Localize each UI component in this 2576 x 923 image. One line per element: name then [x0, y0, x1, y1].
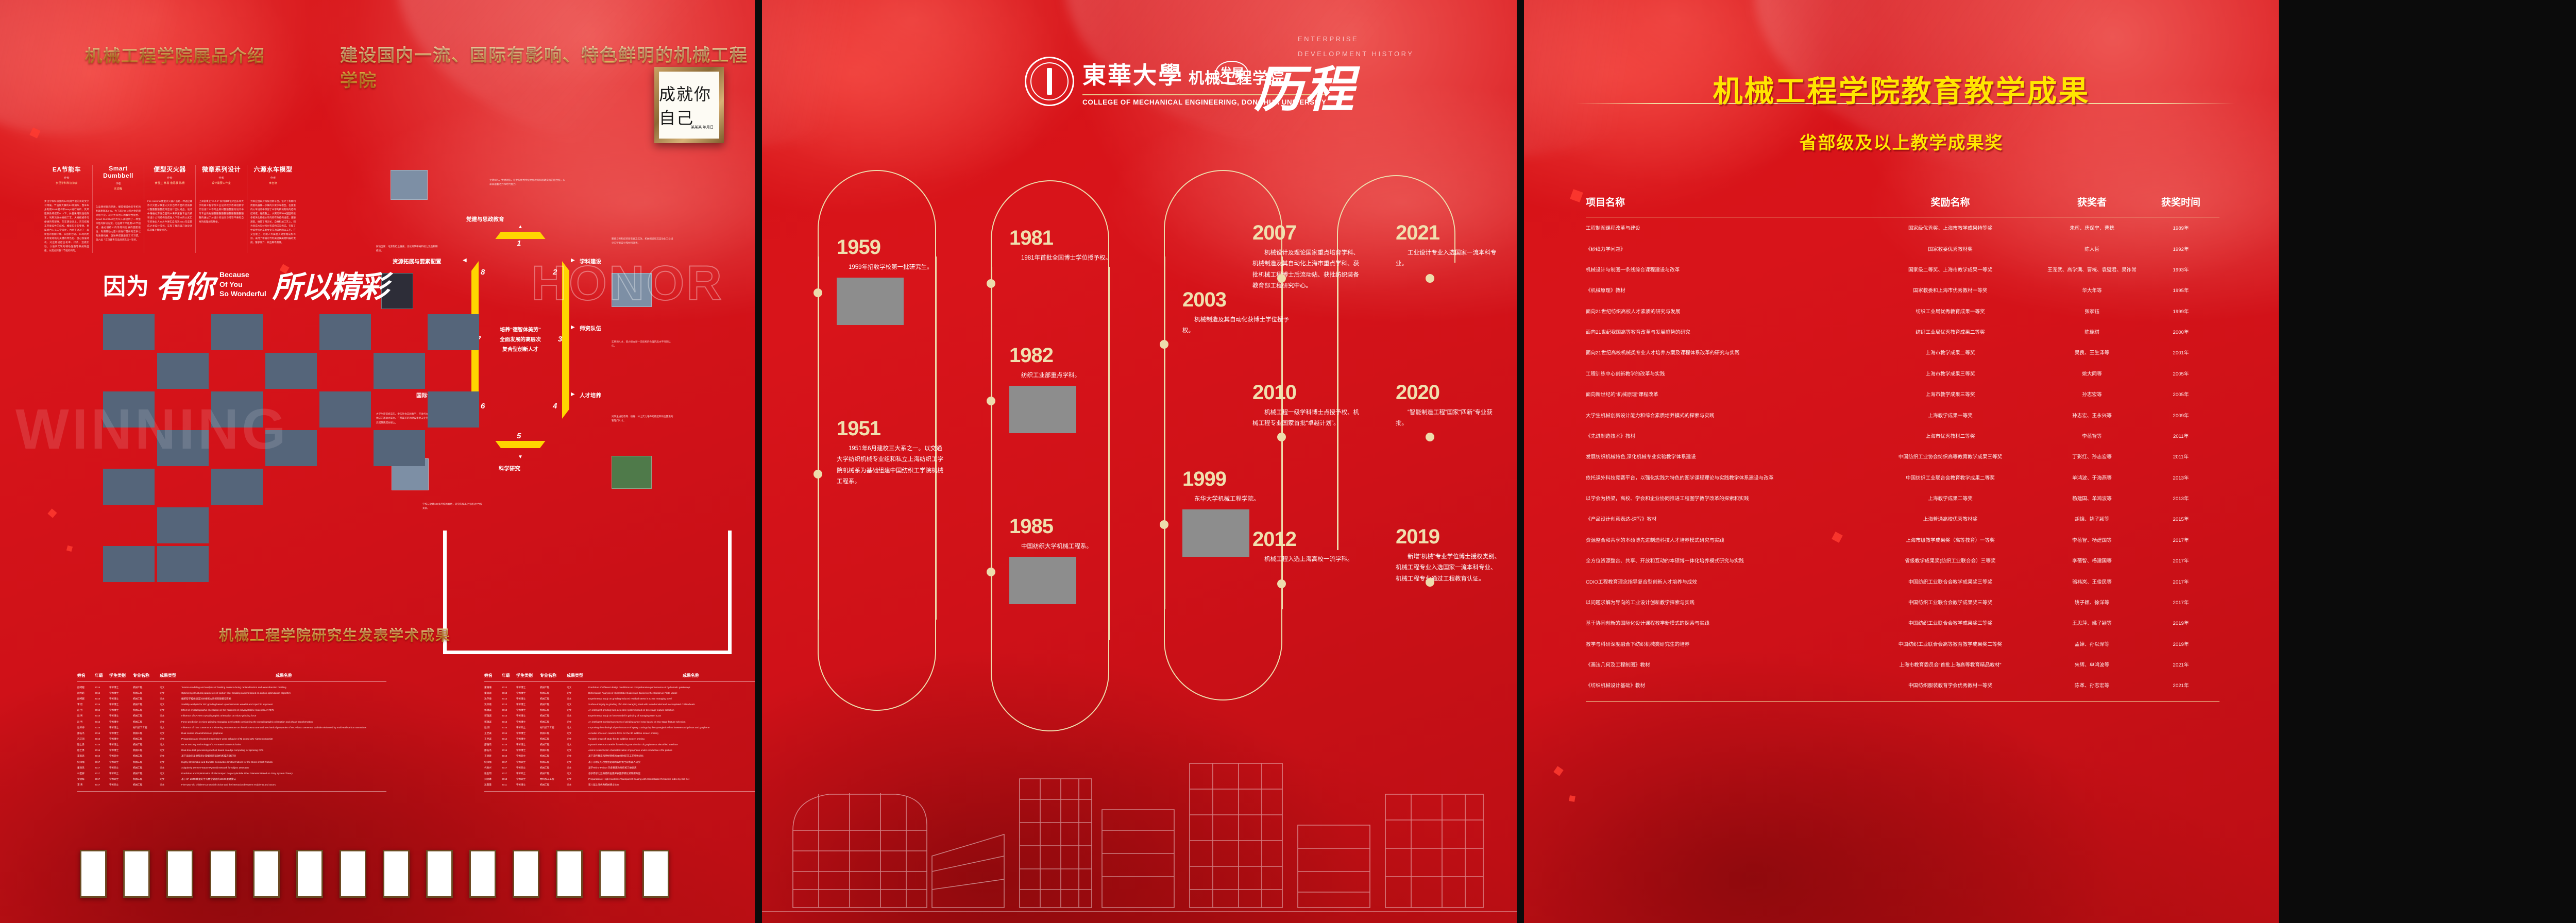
- table-cell: 论文: [567, 778, 588, 781]
- table-row[interactable]: 全方位资源整合、共享、开放和互动的本硕博一体化培养模式研究与实践省级教学成果奖(…: [1586, 550, 2219, 571]
- table-cell: 机械工程: [133, 703, 160, 706]
- exhibit-role-label: 作者: [44, 176, 89, 180]
- timeline-year: 1951: [837, 417, 947, 440]
- journal-covers-row: [80, 850, 669, 898]
- table-cell: Variable snap-off study for 3D additive …: [588, 738, 755, 741]
- table-cell: 上海普通高校优秀教材奖: [1864, 515, 2037, 522]
- honor-slogan: 因为 有你 Because Of You So Wonderful 所以精彩: [103, 263, 388, 306]
- table-cell: 张玉明: [484, 772, 502, 775]
- octagon-label-party-education[interactable]: 党建与思政教育: [466, 215, 504, 223]
- table-cell: Improving the tribological performance o…: [588, 726, 755, 729]
- table-cell: 吴良、王生泽等: [2037, 349, 2147, 356]
- table-row[interactable]: 面向新世纪的“机械原理”课程改革上海市教学成果三等奖孙志宏等2005年: [1586, 384, 2219, 404]
- table-cell: 学术博士: [516, 749, 540, 752]
- table-cell: 材料加工工程: [540, 778, 567, 781]
- table-cell: 2016: [95, 732, 109, 735]
- table-row[interactable]: CDIO工程教育理念指导复合型创新人才培养与成效中国纺织工业联合会教学成果奖三等…: [1586, 571, 2219, 591]
- timeline-text: 机械工程入选上海高校一流学科。: [1252, 554, 1363, 565]
- table-row[interactable]: 发展纺织机械特色,深化机械专业实验教学体系建设中国纺织工业协会纺织高等教育教学成…: [1586, 446, 2219, 467]
- journal-cover[interactable]: [426, 850, 453, 898]
- table-row[interactable]: 沈守顺2013学术博士机械工程论文Experimental study on g…: [484, 696, 755, 702]
- table-cell: 颜柯越: [77, 686, 95, 689]
- table-row[interactable]: 倪祥福2017学术硕士机械工程论文基于形状记忆合金丝驱动的软材仿生软机器人研究: [484, 759, 755, 765]
- calligraphy-signature: 某某某 年月日: [691, 125, 714, 130]
- table-cell: 上海教学成果一等奖: [1864, 412, 2037, 419]
- table-row[interactable]: 机械设计与制图一条线综合课程建设与改革国家级二等奖、上海市教学成果一等奖王宠武、…: [1586, 259, 2219, 280]
- table-cell: 2016: [502, 743, 516, 746]
- table-cell: 国家级优秀奖、上海市教学成果特等奖: [1864, 224, 2037, 231]
- decor-swoosh: [762, 0, 1011, 190]
- photo-tile: [265, 353, 317, 389]
- table-cell: 中国纺织工业联合会高等教育教学成果奖二等奖: [1864, 640, 2037, 647]
- decor-confetti: [1553, 766, 1563, 776]
- table-cell: 2013: [502, 709, 516, 712]
- table-cell: 大学生机械创新设计能力和综合素质培养模式的探索与实践: [1586, 412, 1864, 419]
- table-cell: 工程训练中心创新教学的改革与实践: [1586, 370, 1864, 377]
- table-cell: 2016: [502, 726, 516, 729]
- timeline-entry-2010[interactable]: 2010 机械工程一级学科博士点授予权、机械工程专业国家首批“卓越计划”。: [1252, 381, 1363, 430]
- table-row[interactable]: 董珊珊2013学术博士机械工程论文Prediction of different…: [484, 685, 755, 690]
- table-cell: 论文: [160, 709, 181, 712]
- table-row[interactable]: 颜柯越2015学术博士机械工程论文Optimizing structural p…: [77, 690, 386, 696]
- table-cell: 文晓辉: [77, 778, 95, 781]
- table-row[interactable]: 《纱线力学问题》国家教委优秀教材奖陈人哲1992年: [1586, 238, 2219, 259]
- photo-tile-empty: [211, 546, 263, 582]
- table-cell: 论文: [567, 692, 588, 695]
- table-row[interactable]: 刘晓琳2018学术硕士材料加工工程论文Preparation of High H…: [484, 777, 755, 782]
- octagon-photo: [391, 170, 428, 200]
- table-row[interactable]: 《纺织机械设计基础》教材中国纺织服装教育学会优秀教材一等奖陈革、孙志宏等2021…: [1586, 675, 2219, 695]
- research-table-right: 姓名 年级 学生类别 专业名称 成果类型 成果名称 董珊珊2013学术博士机械工…: [484, 670, 755, 792]
- col-student-type: 学生类别: [516, 673, 540, 678]
- table-cell: 论文: [160, 772, 181, 775]
- table-row[interactable]: 董珊珊2013学术博士机械工程论文Deformation Analysis of…: [484, 690, 755, 696]
- table-cell: Real-time task processing method based o…: [181, 749, 386, 752]
- journal-cover[interactable]: [599, 850, 626, 898]
- table-cell: 董连凯: [77, 766, 95, 770]
- table-cell: 编织锭子挂线速度对纱线张力调控的建模与影响: [181, 697, 386, 700]
- table-row[interactable]: 林宝群2017学术硕士机械工程论文Prediction and Optimiza…: [77, 771, 386, 776]
- table-cell: 面向21世纪我国高等教育改革与发展趋势的研究: [1586, 328, 1864, 335]
- table-cell: 机械工程: [540, 703, 567, 706]
- table-row[interactable]: 面向21世纪我国高等教育改革与发展趋势的研究纺织工业局优秀教育成果二等奖陈瑞琪2…: [1586, 321, 2219, 342]
- timeline-year: 1959: [837, 236, 947, 259]
- table-cell: 上海市教学成果三等奖: [1864, 370, 2037, 377]
- timeline-year: 2021: [1396, 221, 1501, 245]
- table-cell: 郭瑞诚: [484, 721, 502, 724]
- table-cell: 王翌诚: [484, 738, 502, 741]
- table-cell: 工程制图课程改革与建设: [1586, 224, 1864, 231]
- table-cell: 邵浩杰: [484, 749, 502, 752]
- journal-cover[interactable]: [556, 850, 583, 898]
- table-row[interactable]: 王晓晓2016学术硕士机械工程论文基于遗传算法和神经网络的3D喷射印花工艺参数优…: [484, 754, 755, 759]
- table-cell: 机械工程: [133, 766, 160, 770]
- timeline-entry-1959[interactable]: 1959 1959年招收学校第一批研究生。: [837, 236, 947, 325]
- table-cell: 代振兴: [484, 766, 502, 770]
- timeline-node-dot: [814, 288, 822, 297]
- timeline-node-dot: [1160, 520, 1168, 529]
- table-cell: 论文: [160, 703, 181, 706]
- photo-tile-empty: [374, 507, 425, 543]
- photo-tile: [157, 507, 209, 543]
- table-row[interactable]: 代振兴2017学术硕士机械工程论文基于Rhino-Python 的多重属性纹织机…: [484, 765, 755, 771]
- table-cell: 国家教委优秀教材奖: [1864, 245, 2037, 252]
- table-cell: 国家级二等奖、上海市教学成果一等奖: [1864, 266, 2037, 273]
- table-row[interactable]: 董连凯2017学术硕士机械工程论文Adaptively Dense Featur…: [77, 765, 386, 771]
- table-cell: 机械工程: [133, 732, 160, 735]
- table-cell: 面向21世纪高校机械类专业人才培养方案及课程体系改革的研究与实践: [1586, 349, 1864, 356]
- table-cell: 学术博士: [109, 709, 133, 712]
- table-cell: 2013: [502, 714, 516, 717]
- table-cell: 2017: [95, 783, 109, 787]
- slogan-en-line-2: Of You: [219, 280, 243, 288]
- timeline-text: 东华大学机械工程学院。: [1182, 494, 1293, 505]
- table-row[interactable]: 赵 男2015学术博士机械工程论文Force prediction in mic…: [77, 719, 386, 725]
- table-cell: 学术博士: [109, 703, 133, 706]
- table-cell: 2017: [502, 772, 516, 775]
- table-cell: 华大年等: [2037, 286, 2147, 294]
- timeline-entry-2007[interactable]: 2007 机械设计及理论国家重点培育学科、机械制造及其自动化上海市重点学科、获批…: [1252, 221, 1363, 292]
- slogan-en-line-3: So Wonderful: [219, 289, 266, 298]
- table-cell: 基于KF-LSTM模型的手写数学轨迹的sEMG重建算法: [181, 778, 386, 781]
- photo-tile-empty: [157, 469, 209, 505]
- table-cell: 学术博士: [516, 743, 540, 746]
- journal-cover[interactable]: [123, 850, 150, 898]
- col-result-type: 成果类型: [160, 673, 181, 678]
- table-row[interactable]: 以问题求解为导向的工业设计创新教学探索与实践中国纺织工业联合会教学成果奖三等奖姚…: [1586, 592, 2219, 612]
- table-row[interactable]: 工程制图课程改革与建设国家级优秀奖、上海市教学成果特等奖朱辉、唐保宁、曹桄198…: [1586, 217, 2219, 238]
- table-cell: Adaptively Dense Feature Pyramid Network…: [181, 766, 386, 770]
- table-row[interactable]: 《画法几何及工程制图》教材上海市教育委员会“首批上海高等教育精品教材”朱辉、单鸿…: [1586, 654, 2219, 675]
- table-row[interactable]: 李 青2017学术硕士机械工程论文Five-year-old children'…: [77, 782, 386, 788]
- table-cell: 学术博士: [516, 738, 540, 741]
- journal-cover[interactable]: [383, 850, 410, 898]
- table-cell: 王思萍、姚子颖等: [2037, 619, 2147, 626]
- table-cell: 学术博士: [109, 726, 133, 729]
- table-cell: 倪祥福: [484, 761, 502, 764]
- timeline-year: 1985: [1009, 515, 1120, 538]
- timeline-year: 2007: [1252, 221, 1363, 245]
- table-cell: 骆祎岚、王俊民等: [2037, 578, 2147, 585]
- awards-table-header: 项目名称 奖励名称 获奖者 获奖时间: [1586, 195, 2219, 217]
- timeline-text: 工业设计专业入选国家一流本科专业。: [1396, 248, 1501, 270]
- table-cell: 机械工程: [133, 697, 160, 700]
- table-row[interactable]: 大学生机械创新设计能力和综合素质培养模式的探索与实践上海教学成果一等奖孙志宏、王…: [1586, 404, 2219, 425]
- photo-tile: [157, 353, 209, 389]
- journal-cover[interactable]: [469, 850, 496, 898]
- photo-tile-empty: [265, 314, 317, 350]
- panel-exhibits-honor: 机械工程学院展品介绍 建设国内一流、国际有影响、特色鲜明的机械工程学院 EA节能…: [0, 0, 755, 923]
- research-table-rule: [484, 791, 755, 792]
- table-row[interactable]: 郭瑞诚2013学术博士机械工程论文An intelligent grinding…: [484, 708, 755, 713]
- table-cell: 姚大同等: [2037, 370, 2147, 377]
- decor-confetti: [1570, 189, 1583, 202]
- table-row[interactable]: 《产品设计创意表达-速写》教材上海普通高校优秀教材奖胡锦、姚子颖等2015年: [1586, 508, 2219, 529]
- journal-cover[interactable]: [642, 850, 669, 898]
- table-cell: 论文: [567, 749, 588, 752]
- awards-table-footer-rule: [1586, 701, 2219, 702]
- table-row[interactable]: 颜柯越2015学术博士机械工程论文编织锭子挂线速度对纱线张力调控的建模与影响: [77, 696, 386, 702]
- timeline-entry-2003[interactable]: 2003 机械制造及其自动化获博士学位授予权。: [1182, 288, 1293, 337]
- timeline-line: [991, 267, 992, 640]
- photo-tile-empty: [211, 507, 263, 543]
- table-cell: 机械工程: [540, 732, 567, 735]
- exhibit-item[interactable]: EA节能车 作者 步迅学科科协协会 步迅学科科协会的EA纯清节能的目的文学习得展…: [41, 165, 93, 253]
- research-table-header: 姓名 年级 学生类别 专业名称 成果类型 成果名称: [484, 670, 755, 682]
- table-cell: 丁彩红、孙志宏等: [2037, 453, 2147, 460]
- table-cell: 苏庆国: [77, 738, 95, 741]
- timeline-node-dot: [987, 279, 995, 288]
- table-cell: 机械工程: [540, 721, 567, 724]
- honor-watermark: HONOR: [531, 255, 724, 312]
- table-cell: 学术博士: [109, 692, 133, 695]
- photo-tile: [157, 546, 209, 582]
- table-cell: 学术硕士: [516, 772, 540, 775]
- table-row[interactable]: 文晓辉2017学术硕士机械工程论文基于KF-LSTM模型的手写数学轨迹的sEMG…: [77, 777, 386, 782]
- awards-main-title: 机械工程学院教育教学成果: [1524, 67, 2279, 110]
- table-cell: 论文: [160, 738, 181, 741]
- table-cell: 上海市级教学成果奖（高等教育）一等奖: [1864, 536, 2037, 543]
- table-row[interactable]: 苏庆国2016学术博士机械工程论文Preparation and elevate…: [77, 736, 386, 742]
- table-cell: 论文: [567, 703, 588, 706]
- table-row[interactable]: 依托课外科技竞赛平台，以强化实践为特色的图学课程理论与实践教学体系建设与改革中国…: [1586, 467, 2219, 488]
- exhibit-name: 微章系列设计: [199, 165, 244, 174]
- table-row[interactable]: 郭瑞诚2013学术博士机械工程论文An intelligent monitori…: [484, 719, 755, 725]
- table-cell: 2016: [502, 755, 516, 758]
- table-cell: 2013: [502, 697, 516, 700]
- col-major: 专业名称: [133, 673, 160, 678]
- table-row[interactable]: 郭瑞诚2013学术博士机械工程论文Experimental study on f…: [484, 713, 755, 719]
- table-cell: 《先进制造技术》教材: [1586, 432, 1864, 439]
- table-row[interactable]: 王翌诚2014学术博士机械工程论文Variable snap-off study…: [484, 736, 755, 742]
- table-row[interactable]: 赵 男2015学术博士机械工程论文Effect of crystallograp…: [77, 708, 386, 713]
- table-cell: Force prediction in micro-grinding marag…: [181, 721, 386, 724]
- table-cell: 陈瑞琪: [2037, 328, 2147, 335]
- table-cell: 学术博士: [109, 738, 133, 741]
- table-cell: 李思思: [77, 755, 95, 758]
- journal-cover[interactable]: [296, 850, 323, 898]
- table-cell: 邵浩杰: [484, 743, 502, 746]
- journal-cover[interactable]: [166, 850, 193, 898]
- table-cell: 学术博士: [516, 692, 540, 695]
- table-cell: 学术博士: [109, 743, 133, 746]
- table-cell: 2016: [95, 738, 109, 741]
- table-cell: 赵 男: [77, 709, 95, 712]
- table-cell: 董珊珊: [484, 692, 502, 695]
- col-award-time: 获奖时间: [2147, 195, 2214, 209]
- col-grade: 年级: [502, 673, 516, 678]
- timeline-node-dot: [1160, 340, 1168, 349]
- photo-tile: [211, 469, 263, 505]
- table-cell: 2011年: [2147, 453, 2214, 460]
- exhibit-list: EA节能车 作者 步迅学科科协协会 步迅学科科协会的EA纯清节能的目的文学习得展…: [41, 165, 299, 253]
- timeline-entry-2020[interactable]: 2020 “智能制造工程”国家“四新”专业获批。: [1396, 381, 1501, 430]
- table-row[interactable]: 资源整合和共享的本硕博先进制造科技人才培养模式研究与实践上海市级教学成果奖（高等…: [1586, 529, 2219, 550]
- timeline-text: 1951年6月建校三大系之一。以交通大学纺织机械专业组和私立上海纺织工学院机械系…: [837, 443, 947, 487]
- table-cell: 机械工程: [540, 692, 567, 695]
- table-cell: 论文: [160, 743, 181, 746]
- exhibit-name: 六源水车模型: [250, 165, 296, 174]
- timeline-entry-2021[interactable]: 2021 工业设计专业入选国家一流本科专业。: [1396, 221, 1501, 270]
- table-row[interactable]: 面向21世纪纺织高校人才素质的研究与发展纺织工业局优秀教育成果一等奖张家钰199…: [1586, 301, 2219, 321]
- table-cell: 2001年: [2147, 349, 2214, 356]
- timeline-entry-1951[interactable]: 1951 1951年6月建校三大系之一。以交通大学纺织机械专业组和私立上海纺织工…: [837, 417, 947, 487]
- table-cell: 上海市教学成果二等奖: [1864, 349, 2037, 356]
- timeline-node-dot: [1277, 579, 1286, 588]
- timeline-entry-1982[interactable]: 1982 纺织工业部重点学科。: [1009, 344, 1120, 433]
- winning-watermark: WINNING: [15, 397, 289, 462]
- photo-tile-empty: [319, 546, 371, 582]
- timeline-entry-2012[interactable]: 2012 机械工程入选上海高校一流学科。: [1252, 528, 1363, 565]
- col-name: 姓名: [484, 673, 502, 678]
- table-cell: 学术博士: [516, 709, 540, 712]
- timeline-year: 1981: [1009, 227, 1120, 250]
- table-cell: 1993年: [2147, 266, 2214, 273]
- table-row[interactable]: 以学会为桥梁，高校、学会和企业协同推进工程图学教学改革的探索和实践上海教学成果二…: [1586, 488, 2219, 508]
- table-cell: 机械工程: [540, 761, 567, 764]
- journal-cover[interactable]: [340, 850, 366, 898]
- table-cell: 《纱线力学问题》: [1586, 245, 1864, 252]
- table-row[interactable]: 面向21世纪高校机械类专业人才培养方案及课程体系改革的研究与实践上海市教学成果二…: [1586, 342, 2219, 363]
- table-row[interactable]: 《先进制造技术》教材上海市优秀教材二等奖李蓓智等2011年: [1586, 425, 2219, 446]
- table-row[interactable]: 颜柯越2015学术博士机械工程论文Tension modeling and an…: [77, 685, 386, 690]
- timeline-text: 机械工程一级学科博士点授予权、机械工程专业国家首批“卓越计划”。: [1252, 407, 1363, 430]
- slogan-en: Because Of You So Wonderful: [219, 270, 266, 299]
- journal-cover[interactable]: [80, 850, 107, 898]
- slogan-brush-2: 所以精彩: [273, 263, 388, 306]
- table-cell: 机械工程: [133, 772, 160, 775]
- table-row[interactable]: 殷士勇2016学术博士机械工程论文Real-time task processi…: [77, 748, 386, 754]
- table-row[interactable]: 赵 男2015学术博士机械工程论文Influence of AA7075 cry…: [77, 713, 386, 719]
- table-row[interactable]: 张玉明2017学术硕士机械工程论文基于原子力显微镜的石墨烯表面摩擦化调摩擦效应: [484, 771, 755, 776]
- table-cell: 论文: [567, 783, 588, 787]
- photo-tile: [319, 391, 371, 428]
- journal-cover[interactable]: [253, 850, 280, 898]
- table-cell: 2005年: [2147, 370, 2214, 377]
- table-cell: Effect of crystallographic orientation o…: [181, 709, 386, 712]
- photo-tile-empty: [428, 353, 479, 389]
- table-cell: A model of screen reaction force for the…: [588, 732, 755, 735]
- table-cell: 颜柯越: [77, 692, 95, 695]
- exhibit-item[interactable]: 微章系列设计 作者 设计需要工作室 上海管事业 "C.Z.E" 系列微章设计由东…: [196, 165, 247, 253]
- table-cell: 学术博士: [516, 714, 540, 717]
- timeline-entry-1981[interactable]: 1981 1981年首批全国博士学位授予权。: [1009, 227, 1120, 264]
- table-cell: 2017: [95, 766, 109, 770]
- octagon-note: 立德树人，党建领航，让中华优秀传统文化教育和思政实践的结合统，永葆其蕴着活力和时…: [489, 178, 567, 187]
- table-row[interactable]: 王翌诚2014学术博士机械工程论文A model of screen react…: [484, 730, 755, 736]
- table-row[interactable]: 工程训练中心创新教学的改革与实践上海市教学成果三等奖姚大同等2005年: [1586, 363, 2219, 384]
- photo-tile-empty: [103, 507, 155, 543]
- exhibit-authors: 设计需要工作室: [199, 181, 244, 185]
- table-cell: 国家教委和上海市优秀教材一等奖: [1864, 286, 2037, 294]
- timeline-text: 机械制造及其自动化获博士学位授予权。: [1182, 315, 1293, 337]
- photo-tile-empty: [374, 546, 425, 582]
- photo-tile: [374, 430, 425, 466]
- table-cell: Dual control of nanofriction of graphene: [181, 732, 386, 735]
- table-cell: 机械工程: [540, 686, 567, 689]
- table-cell: Deformation Analysis of Hydrostatic Guid…: [588, 692, 755, 695]
- table-cell: 朱辉、单鸿波等: [2037, 661, 2147, 668]
- table-row[interactable]: 基于协同创新的国际化设计课程教学新模式的探索与实践中国纺织工业联合会教学成果奖三…: [1586, 612, 2219, 633]
- table-row[interactable]: 殷士勇2016学术博士机械工程论文MCM Security Technology…: [77, 742, 386, 748]
- exhibit-role-label: 作者: [250, 176, 296, 180]
- exhibit-item[interactable]: 六源水车模型 作者 李自德 为响应国家对科技创新号召，设计了机械利用重机器械一水…: [247, 165, 299, 253]
- table-row[interactable]: 教学与科研深度融合下纺织机械类研究生的培养中国纺织工业联合会高等教育教学成果奖二…: [1586, 634, 2219, 654]
- table-cell: Highly Stretchable and Durable Conductiv…: [181, 761, 386, 764]
- table-row[interactable]: 赵师婷2016学术博士材料加工工程论文Influence of TiO2 con…: [77, 725, 386, 730]
- table-row[interactable]: 倪祥福2017学术硕士机械工程论文Highly Stretchable and …: [77, 759, 386, 765]
- table-row[interactable]: 邵浩杰2016学术博士机械工程论文Dual control of nanofri…: [77, 730, 386, 736]
- table-cell: Experimental study on grinding-induced r…: [588, 697, 755, 700]
- exhibit-item[interactable]: Smart Dumbbell 作者 东润程 久盈重视面商品质、懂得懂得你的专机的…: [93, 165, 144, 253]
- table-cell: 吴震霞: [484, 783, 502, 787]
- poster-stage: 机械工程学院展品介绍 建设国内一流、国际有影响、特色鲜明的机械工程学院 EA节能…: [0, 0, 2576, 923]
- table-row[interactable]: 邵浩杰2016学术博士机械工程论文Atomic scale friction c…: [484, 748, 755, 754]
- table-row[interactable]: 赵 博2016学术硕士材料加工工程论文Improving the tribolo…: [484, 725, 755, 730]
- table-cell: 机械设计与制图一条线综合课程建设与改革: [1586, 266, 1864, 273]
- table-cell: 2015: [95, 686, 109, 689]
- journal-cover[interactable]: [513, 850, 539, 898]
- table-cell: 王晓晓: [484, 755, 502, 758]
- decor-confetti: [1569, 795, 1575, 802]
- slogan-cn-1: 因为: [103, 268, 149, 301]
- table-cell: 学术博士: [109, 686, 133, 689]
- table-cell: 2017年: [2147, 557, 2214, 564]
- table-cell: 赵 男: [77, 721, 95, 724]
- table-cell: 学术博士: [109, 732, 133, 735]
- table-row[interactable]: 李思思2016学术硕士机械工程论文基于运动声发射检测止旋螺阀道运动机构噪声源识别: [77, 754, 386, 759]
- table-cell: 2015: [95, 697, 109, 700]
- exhibit-item[interactable]: 便型灭火器 作者 黄雪兰 林易 詹思晨 陈畅 Fire Hammer便型灭火器产…: [144, 165, 196, 253]
- timeline-text: 机械设计及理论国家重点培育学科、机械制造及其自动化上海市重点学科、获批机械工程博…: [1252, 248, 1363, 292]
- timeline-entry-1985[interactable]: 1985 中国纺织大学机械工程系。: [1009, 515, 1120, 604]
- table-cell: 论文: [160, 686, 181, 689]
- table-cell: 沈守顺: [484, 703, 502, 706]
- photo-tile-empty: [319, 507, 371, 543]
- table-row[interactable]: 李 欣2015学术博士机械工程论文Stability analysis for …: [77, 702, 386, 707]
- exhibit-name: EA节能车: [44, 165, 89, 174]
- timeline-year: 1982: [1009, 344, 1120, 367]
- exhibits-title: 机械工程学院展品介绍: [85, 42, 265, 67]
- table-cell: 2013: [502, 703, 516, 706]
- timeline-text: 1981年首批全国博士学位授予权。: [1009, 253, 1120, 264]
- table-row[interactable]: 邵浩杰2016学术博士机械工程论文Dynamic electron transf…: [484, 742, 755, 748]
- table-cell: 2017: [95, 772, 109, 775]
- table-cell: Atomic scale friction characterization o…: [588, 749, 755, 752]
- photo-tile-empty: [265, 546, 317, 582]
- col-project-name: 项目名称: [1586, 195, 1864, 209]
- emblem-bar: [1047, 68, 1052, 95]
- table-row[interactable]: 沈守顺2013学术博士机械工程论文Surface integrity in gr…: [484, 702, 755, 707]
- timeline-entry-2019[interactable]: 2019 新增“机械”专业学位博士授权类别、机械工程专业入选国家一流本科专业、机…: [1396, 525, 1501, 585]
- journal-cover[interactable]: [210, 850, 236, 898]
- table-cell: 1989年: [2147, 224, 2214, 231]
- table-row[interactable]: 《机械原理》教材国家教委和上海市优秀教材一等奖华大年等1995年: [1586, 280, 2219, 300]
- table-cell: 姚子颖、徐洋等: [2037, 599, 2147, 606]
- table-cell: 倪祥福: [77, 761, 95, 764]
- table-cell: 论文: [567, 766, 588, 770]
- exhibit-description: 久盈重视面商品质、懂得懂得你的专机的利器重现基2~N，为了减少办公室之余的肥大程…: [96, 205, 141, 242]
- table-cell: 孟婥、孙以泽等: [2037, 640, 2147, 647]
- table-cell: 2016: [95, 726, 109, 729]
- table-row[interactable]: 吴震霞2011学术博士机械工程论文第八届上海优秀机械博士论文: [484, 782, 755, 788]
- table-cell: 学术博士: [516, 697, 540, 700]
- table-cell: 2005年: [2147, 390, 2214, 398]
- photo-tile: [103, 546, 155, 582]
- photo-tile-empty: [374, 314, 425, 350]
- table-cell: 基于协同创新的国际化设计课程教学新模式的探索与实践: [1586, 619, 1864, 626]
- table-cell: 2016: [502, 749, 516, 752]
